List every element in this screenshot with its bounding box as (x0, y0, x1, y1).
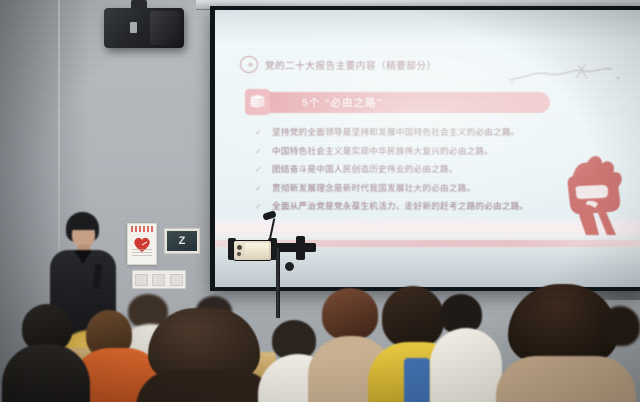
slide-header: » 党的二十大报告主要内容（精要部分） (240, 56, 437, 73)
check-bullet-icon: ✓ (255, 201, 263, 212)
audience-head (322, 288, 378, 340)
raised-fist-icon (542, 149, 634, 235)
audience (0, 282, 640, 402)
book-icon (245, 89, 270, 115)
speaker-grille (130, 22, 137, 33)
phone-screen[interactable] (245, 243, 269, 258)
section-banner: 5个 “必由之路” (252, 92, 550, 113)
audience-head (382, 286, 444, 348)
check-bullet-icon: ✓ (255, 127, 263, 138)
audience-shoulders (430, 328, 502, 402)
smartphone[interactable] (233, 240, 272, 261)
camera-lens-icon (237, 252, 241, 256)
check-bullet-icon: ✓ (255, 164, 263, 175)
heart-poster (127, 223, 157, 265)
photo-scene: » 党的二十大报告主要内容（精要部分） 5个 “必由之路” (0, 0, 640, 402)
audience-head (600, 306, 640, 346)
bullet-text: 坚持党的全面领导是坚持和发展中国特色社会主义的必由之路。 (272, 127, 520, 138)
audience-shoulders (136, 370, 276, 402)
tripod-joint (296, 236, 305, 260)
presenter-fringe (69, 219, 97, 230)
tripod-knob[interactable] (285, 262, 294, 271)
check-bullet-icon: ✓ (255, 146, 263, 157)
list-item: ✓ 坚持党的全面领导是坚持和发展中国特色社会主义的必由之路。 (255, 127, 605, 138)
wall-speaker-icon (104, 8, 184, 48)
check-bullet-icon: ✓ (255, 183, 263, 194)
calligraphy-flourish-icon (507, 62, 622, 88)
bullet-text: 贯彻新发展理念是新时代我国发展壮大的必由之路。 (272, 183, 475, 194)
section-banner-label: 5个 “必由之路” (302, 95, 383, 110)
chevron-double-right-icon: » (240, 56, 258, 73)
backpack-strap (404, 358, 430, 402)
audience-shoulders (496, 356, 636, 402)
bullet-text: 团结奋斗是中国人民创造历史伟业的必由之路。 (272, 164, 458, 175)
poster-header-band (131, 226, 153, 232)
poster-text-lines (132, 249, 152, 258)
tripod-crossbar (274, 243, 316, 252)
dark-sign-logo: Z (167, 231, 197, 251)
dark-sign: Z (164, 228, 200, 254)
bullet-text: 中国特色社会主义是实现中华民族伟大复兴的必由之路。 (272, 146, 493, 157)
camera-lens-icon (237, 245, 242, 250)
bullet-text: 全面从严治党是党永葆生机活力、走好新的赶考之路的必由之路。 (272, 201, 528, 212)
slide-title: 党的二十大报告主要内容（精要部分） (265, 58, 437, 72)
